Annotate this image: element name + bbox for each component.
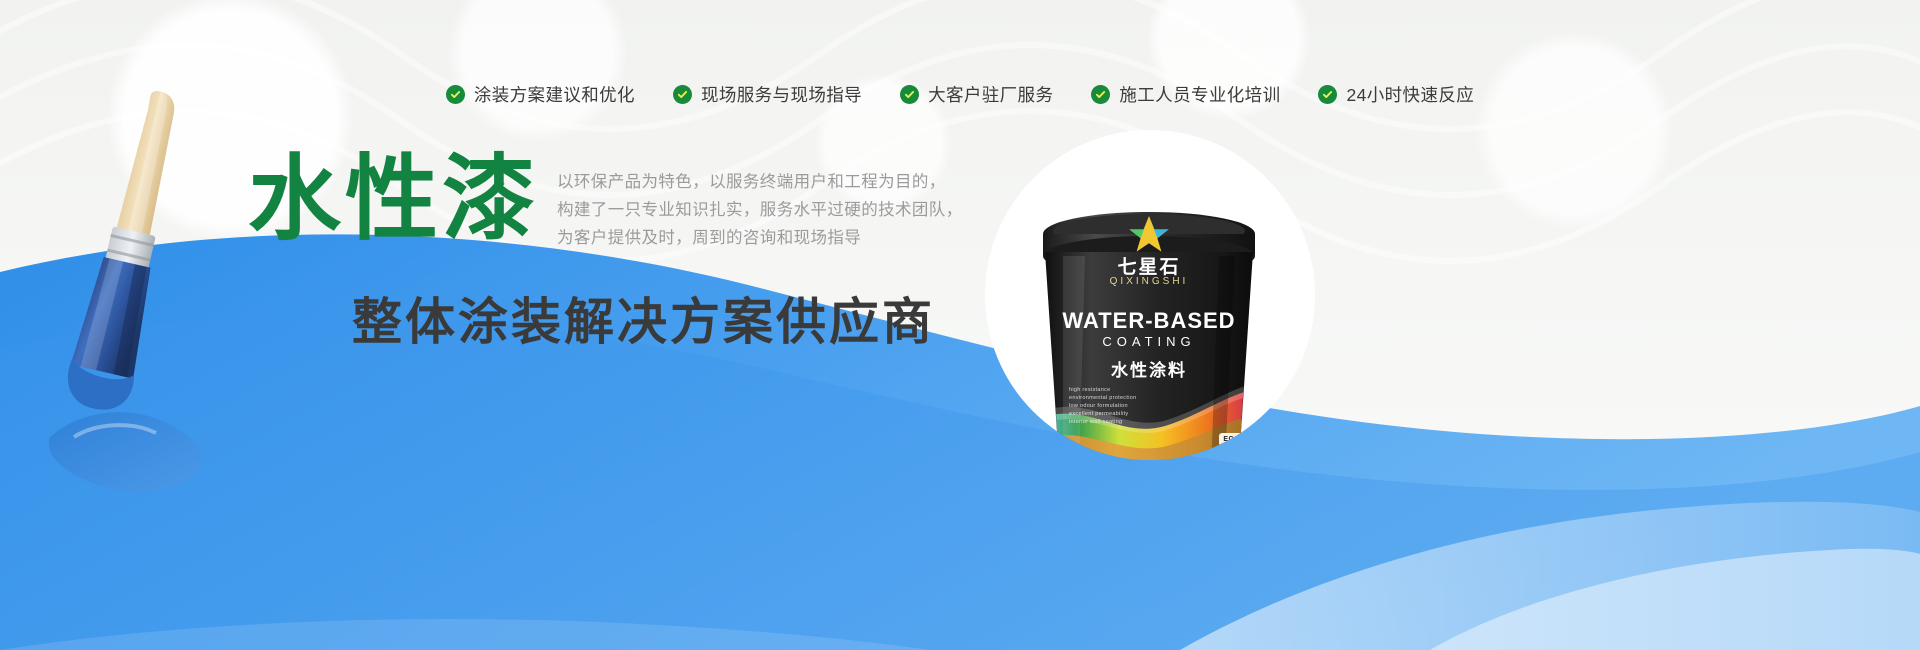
product-circle-clip: 七星石 QIXINGSHI WATER-BASED COATING 水性涂料 h… bbox=[985, 130, 1315, 460]
feature-item-3[interactable]: 施工人员专业化培训 bbox=[1091, 82, 1280, 107]
headline-row: 水性漆 以环保产品为特色，以服务终端用户和工程为目的， 构建了一只专业知识扎实，… bbox=[248, 152, 963, 252]
check-circle-icon bbox=[1318, 85, 1337, 104]
check-circle-icon bbox=[673, 85, 692, 104]
feature-label: 涂装方案建议和优化 bbox=[474, 82, 635, 107]
check-circle-icon bbox=[446, 85, 465, 104]
paintbrush-illustration bbox=[40, 85, 230, 505]
paint-bucket-image: 七星石 QIXINGSHI WATER-BASED COATING 水性涂料 h… bbox=[1023, 190, 1275, 460]
feature-item-2[interactable]: 大客户驻厂服务 bbox=[900, 82, 1053, 107]
feature-label: 现场服务与现场指导 bbox=[701, 82, 862, 107]
feature-list: 涂装方案建议和优化 现场服务与现场指导 大客户驻厂服务 施工人员专业化培训 24… bbox=[0, 82, 1920, 107]
feature-label: 24小时快速反应 bbox=[1346, 82, 1474, 107]
check-circle-icon bbox=[900, 85, 919, 104]
description-line-2: 为客户提供及时，周到的咨询和现场指导 bbox=[557, 224, 963, 252]
product-showcase: 七星石 QIXINGSHI WATER-BASED COATING 水性涂料 h… bbox=[985, 130, 1315, 460]
feature-item-1[interactable]: 现场服务与现场指导 bbox=[673, 82, 862, 107]
feature-label: 施工人员专业化培训 bbox=[1119, 82, 1280, 107]
description-line-0: 以环保产品为特色，以服务终端用户和工程为目的， bbox=[557, 168, 963, 196]
feature-label: 大客户驻厂服务 bbox=[928, 82, 1053, 107]
description-line-1: 构建了一只专业知识扎实，服务水平过硬的技术团队， bbox=[557, 196, 963, 224]
headline-title: 水性漆 bbox=[248, 152, 539, 247]
blue-wave-graphic bbox=[0, 220, 1920, 650]
feature-item-0[interactable]: 涂装方案建议和优化 bbox=[446, 82, 635, 107]
feature-item-4[interactable]: 24小时快速反应 bbox=[1318, 82, 1474, 107]
promotional-banner: 涂装方案建议和优化 现场服务与现场指导 大客户驻厂服务 施工人员专业化培训 24… bbox=[0, 0, 1920, 650]
headline-description: 以环保产品为特色，以服务终端用户和工程为目的， 构建了一只专业知识扎实，服务水平… bbox=[557, 168, 963, 252]
banner-subtitle: 整体涂装解决方案供应商 bbox=[352, 282, 935, 354]
check-circle-icon bbox=[1091, 85, 1110, 104]
